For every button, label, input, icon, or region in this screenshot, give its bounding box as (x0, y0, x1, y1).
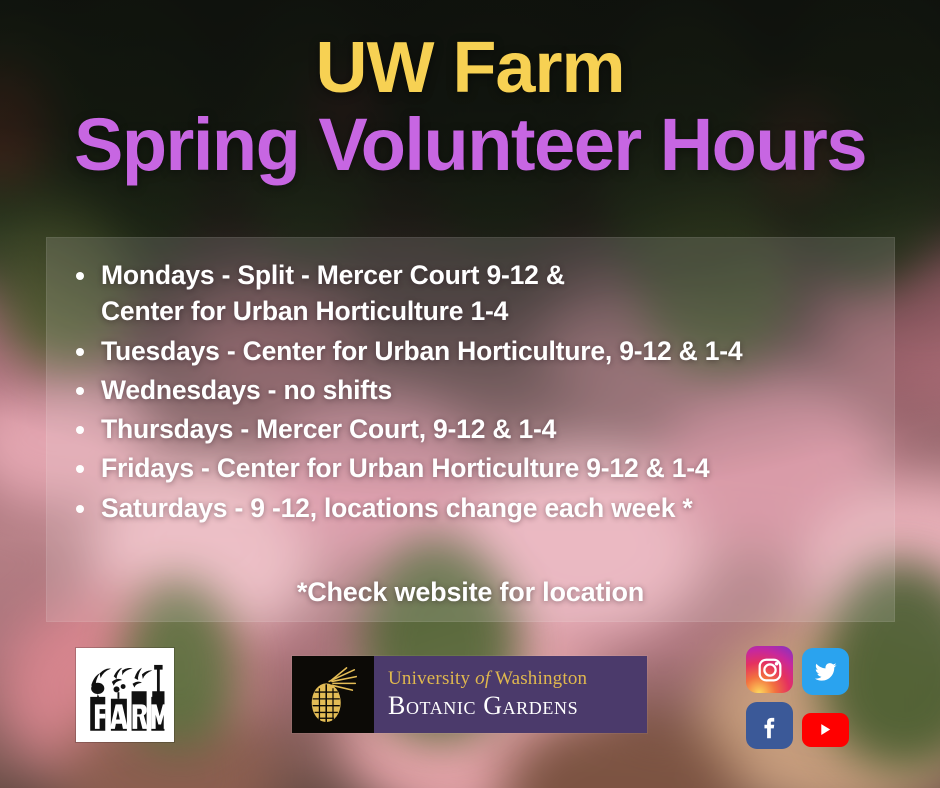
list-item: Wednesdays - no shifts (68, 372, 873, 408)
schedule-line-continued: Center for Urban Horticulture 1-4 (101, 293, 873, 329)
page-subtitle: Spring Volunteer Hours (0, 109, 940, 180)
uwbg-of-text: of (475, 668, 490, 689)
twitter-icon[interactable] (802, 648, 849, 695)
schedule-line-primary: Tuesdays - Center for Urban Horticulture… (101, 336, 742, 366)
list-item: Mondays - Split - Mercer Court 9-12 & Ce… (68, 257, 873, 330)
schedule-line-primary: Saturdays - 9 -12, locations change each… (101, 493, 693, 523)
social-links (746, 646, 864, 756)
page-title: UW Farm (0, 34, 940, 103)
schedule-list: Mondays - Split - Mercer Court 9-12 & Ce… (46, 237, 895, 526)
list-item: Saturdays - 9 -12, locations change each… (68, 490, 873, 526)
schedule-line-primary: Thursdays - Mercer Court, 9-12 & 1-4 (101, 414, 556, 444)
poster-headline: UW Farm Spring Volunteer Hours (0, 34, 940, 180)
uwbg-washington-text: Washington (490, 668, 587, 689)
schedule-line-primary: Fridays - Center for Urban Horticulture … (101, 453, 709, 483)
uwbg-wordmark: University of Washington Botanic Gardens (374, 656, 647, 733)
youtube-icon[interactable] (802, 706, 849, 753)
uw-farm-logo (76, 648, 174, 742)
schedule-line-primary: Wednesdays - no shifts (101, 375, 392, 405)
poster-canvas: UW Farm Spring Volunteer Hours Mondays -… (0, 0, 940, 788)
facebook-icon[interactable] (746, 702, 793, 749)
website-note: *Check website for location (46, 577, 895, 608)
schedule-panel: Mondays - Split - Mercer Court 9-12 & Ce… (46, 237, 895, 622)
uwbg-university-text: University (388, 668, 475, 689)
uw-botanic-gardens-logo: University of Washington Botanic Gardens (292, 656, 647, 733)
footer-bar: University of Washington Botanic Gardens (0, 640, 940, 760)
pinecone-icon (292, 656, 374, 733)
list-item: Thursdays - Mercer Court, 9-12 & 1-4 (68, 411, 873, 447)
instagram-icon[interactable] (746, 646, 793, 693)
youtube-play-button (802, 713, 849, 747)
uwbg-university-line: University of Washington (388, 669, 647, 690)
uwbg-botanic-gardens-line: Botanic Gardens (388, 691, 647, 721)
schedule-line-primary: Mondays - Split - Mercer Court 9-12 & (101, 260, 565, 290)
list-item: Tuesdays - Center for Urban Horticulture… (68, 333, 873, 369)
list-item: Fridays - Center for Urban Horticulture … (68, 450, 873, 486)
